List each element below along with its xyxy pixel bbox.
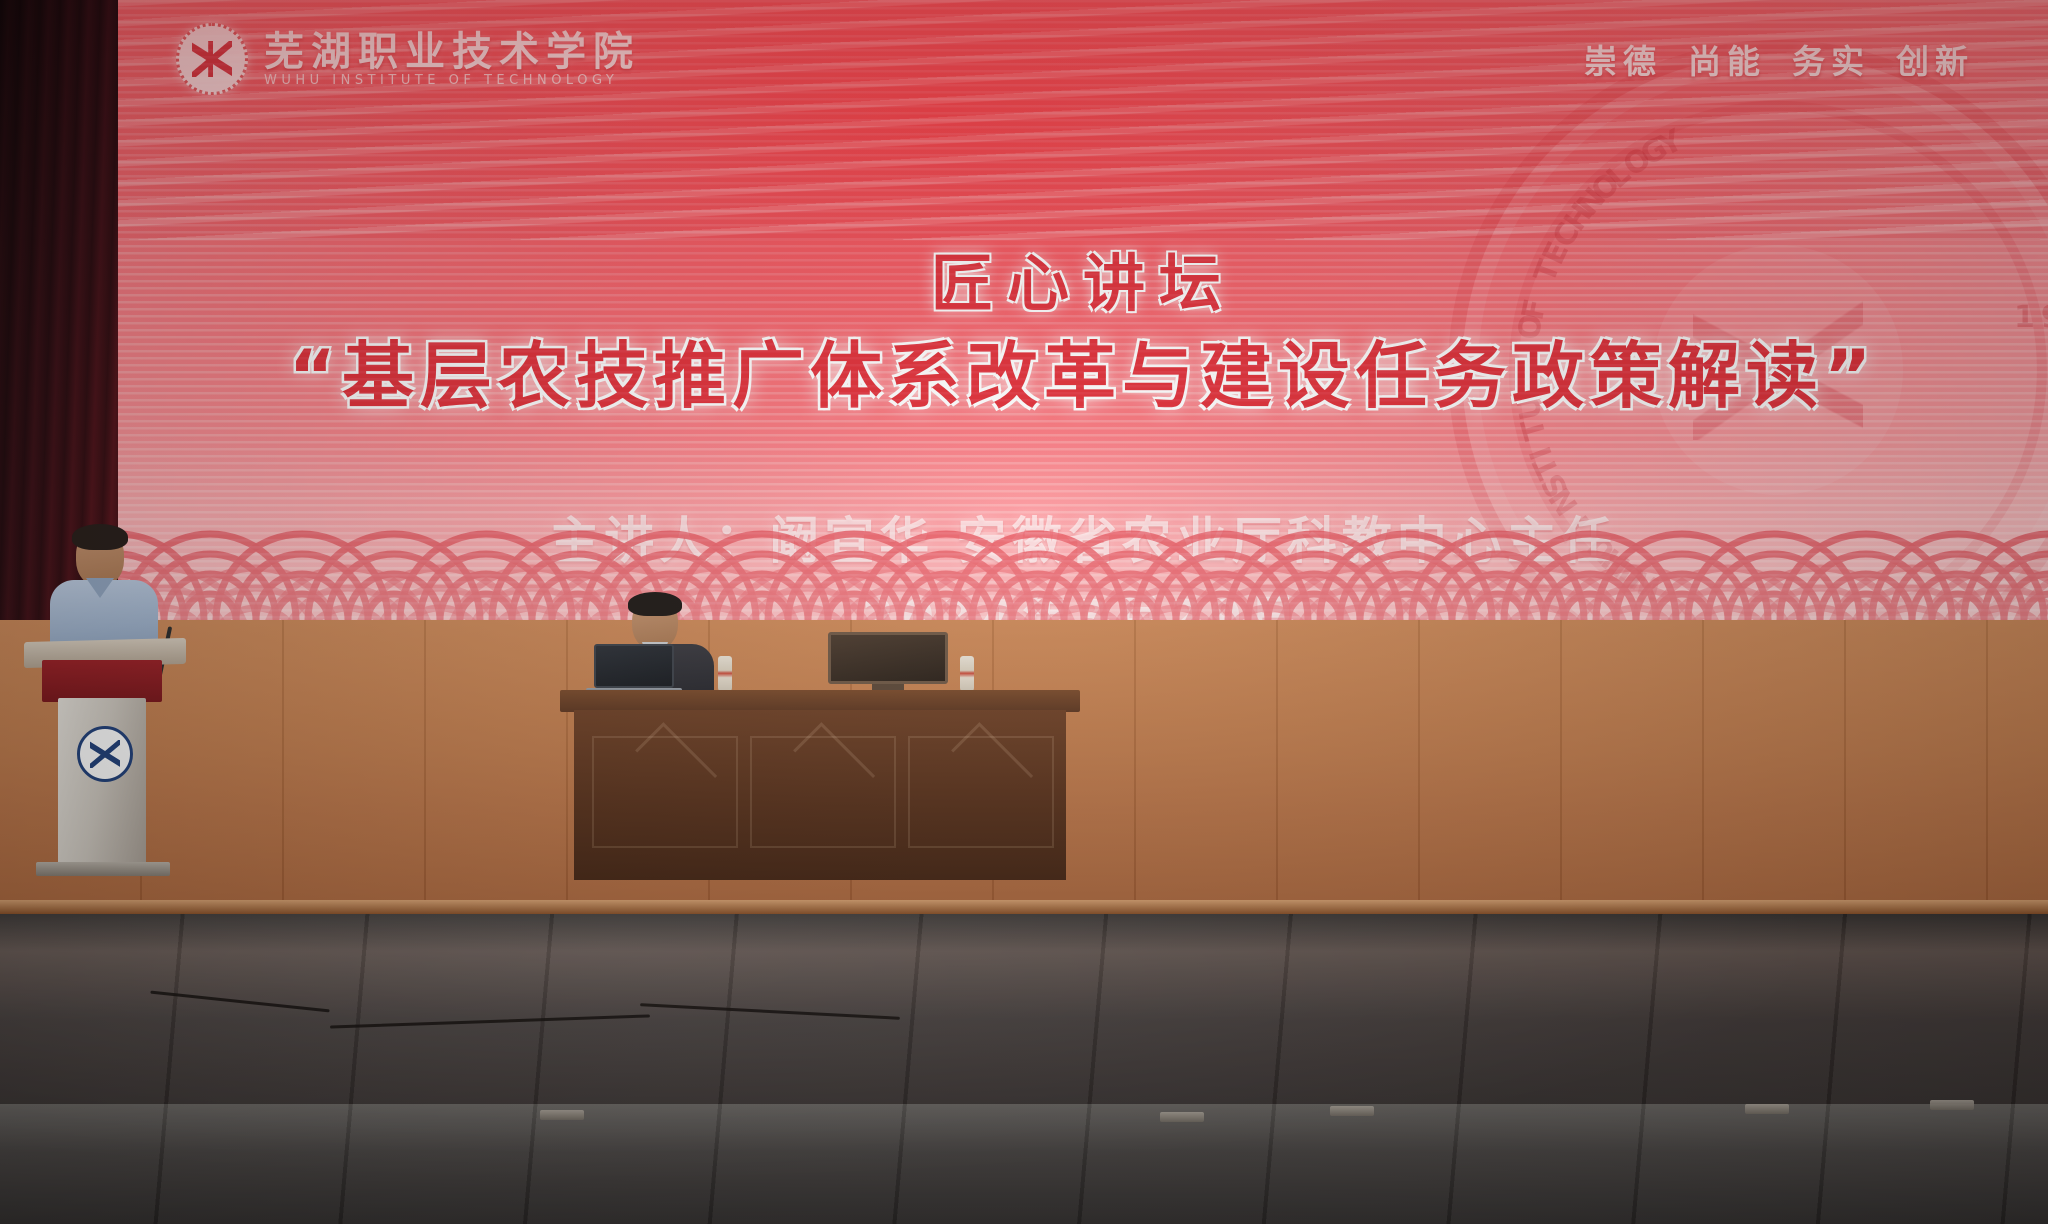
floor-outlet-box bbox=[1160, 1112, 1204, 1122]
university-emblem-icon bbox=[77, 726, 133, 782]
floor-outlet-box bbox=[1930, 1100, 1974, 1110]
floor-outlet-box bbox=[1330, 1106, 1374, 1116]
floor-outlet-box bbox=[540, 1110, 584, 1120]
table-panel bbox=[750, 736, 896, 848]
led-scanline-overlay bbox=[118, 0, 2048, 620]
floor-outlet-box bbox=[1745, 1104, 1789, 1114]
table-panel bbox=[592, 736, 738, 848]
monitor-icon bbox=[828, 632, 948, 698]
laptop-screen bbox=[594, 644, 674, 688]
speaker-hair bbox=[72, 524, 128, 550]
head-table bbox=[560, 690, 1080, 890]
table-panel bbox=[908, 736, 1054, 848]
lecture-hall-scene: WUHUINSTITUTEOFTECHNOLOGY1935 芜湖职业技术学院 W… bbox=[0, 0, 2048, 1224]
water-bottle-icon bbox=[960, 656, 974, 692]
water-bottle-icon bbox=[718, 656, 732, 692]
table-surface bbox=[560, 690, 1080, 712]
table-front-panel bbox=[574, 710, 1066, 880]
guest-hair bbox=[628, 592, 682, 616]
floor-marble-strip bbox=[0, 1104, 2048, 1224]
podium-base bbox=[36, 862, 170, 876]
auditorium-floor bbox=[0, 914, 2048, 1224]
led-presentation-screen: WUHUINSTITUTEOFTECHNOLOGY1935 芜湖职业技术学院 W… bbox=[118, 0, 2048, 620]
podium-front-band bbox=[42, 660, 162, 702]
podium-column bbox=[58, 698, 146, 868]
stage-edge bbox=[0, 900, 2048, 914]
monitor-screen bbox=[828, 632, 948, 684]
lectern-podium bbox=[30, 640, 180, 880]
